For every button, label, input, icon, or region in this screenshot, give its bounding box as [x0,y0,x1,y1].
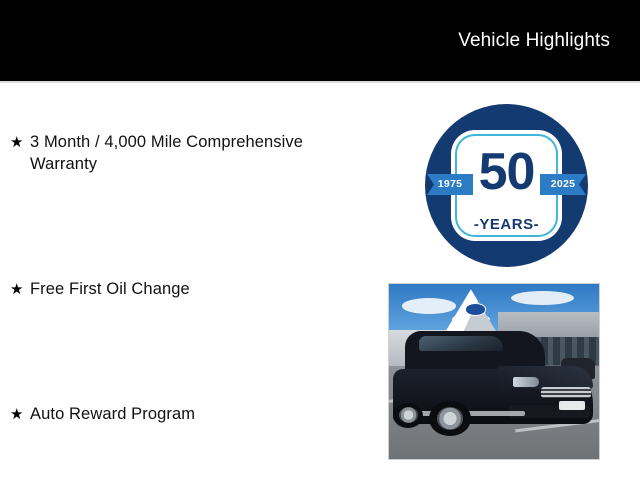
list-item: ★ 3 Month / 4,000 Mile Comprehensive War… [10,131,355,175]
suv-grille [541,387,591,399]
badge-years-label: -YEARS- [451,216,562,233]
photo-suv [393,331,593,436]
suv-front-wheel [429,401,471,437]
photo-cloud [511,291,574,305]
suv-headlight [513,377,539,386]
photo-cloud [402,298,457,314]
header-bar: Vehicle Highlights [0,0,640,81]
star-bullet-icon: ★ [10,131,30,154]
content-area: ★ 3 Month / 4,000 Mile Comprehensive War… [0,83,640,480]
anniversary-badge-icon: 50 -YEARS- 1975 2025 [425,104,588,267]
highlight-text: 3 Month / 4,000 Mile Comprehensive Warra… [30,131,355,175]
suv-license-plate [559,401,585,410]
star-bullet-icon: ★ [10,403,30,426]
badge-start-year-ribbon: 1975 [427,174,473,195]
photo-brand-oval-logo [465,303,486,315]
vehicle-photo[interactable] [388,283,600,460]
vehicle-highlights-list: ★ 3 Month / 4,000 Mile Comprehensive War… [0,83,370,480]
list-item: ★ Auto Reward Program [10,403,355,426]
badge-end-year-ribbon: 2025 [540,174,586,195]
list-item: ★ Free First Oil Change [10,278,355,301]
highlight-text: Auto Reward Program [30,403,355,425]
highlight-text: Free First Oil Change [30,278,355,300]
suv-hood [497,366,593,389]
badge-circle: 50 -YEARS- 1975 2025 [425,104,588,267]
suv-rear-wheel [393,403,423,428]
star-bullet-icon: ★ [10,278,30,301]
suv-windows [419,336,503,351]
page-title: Vehicle Highlights [458,29,610,53]
